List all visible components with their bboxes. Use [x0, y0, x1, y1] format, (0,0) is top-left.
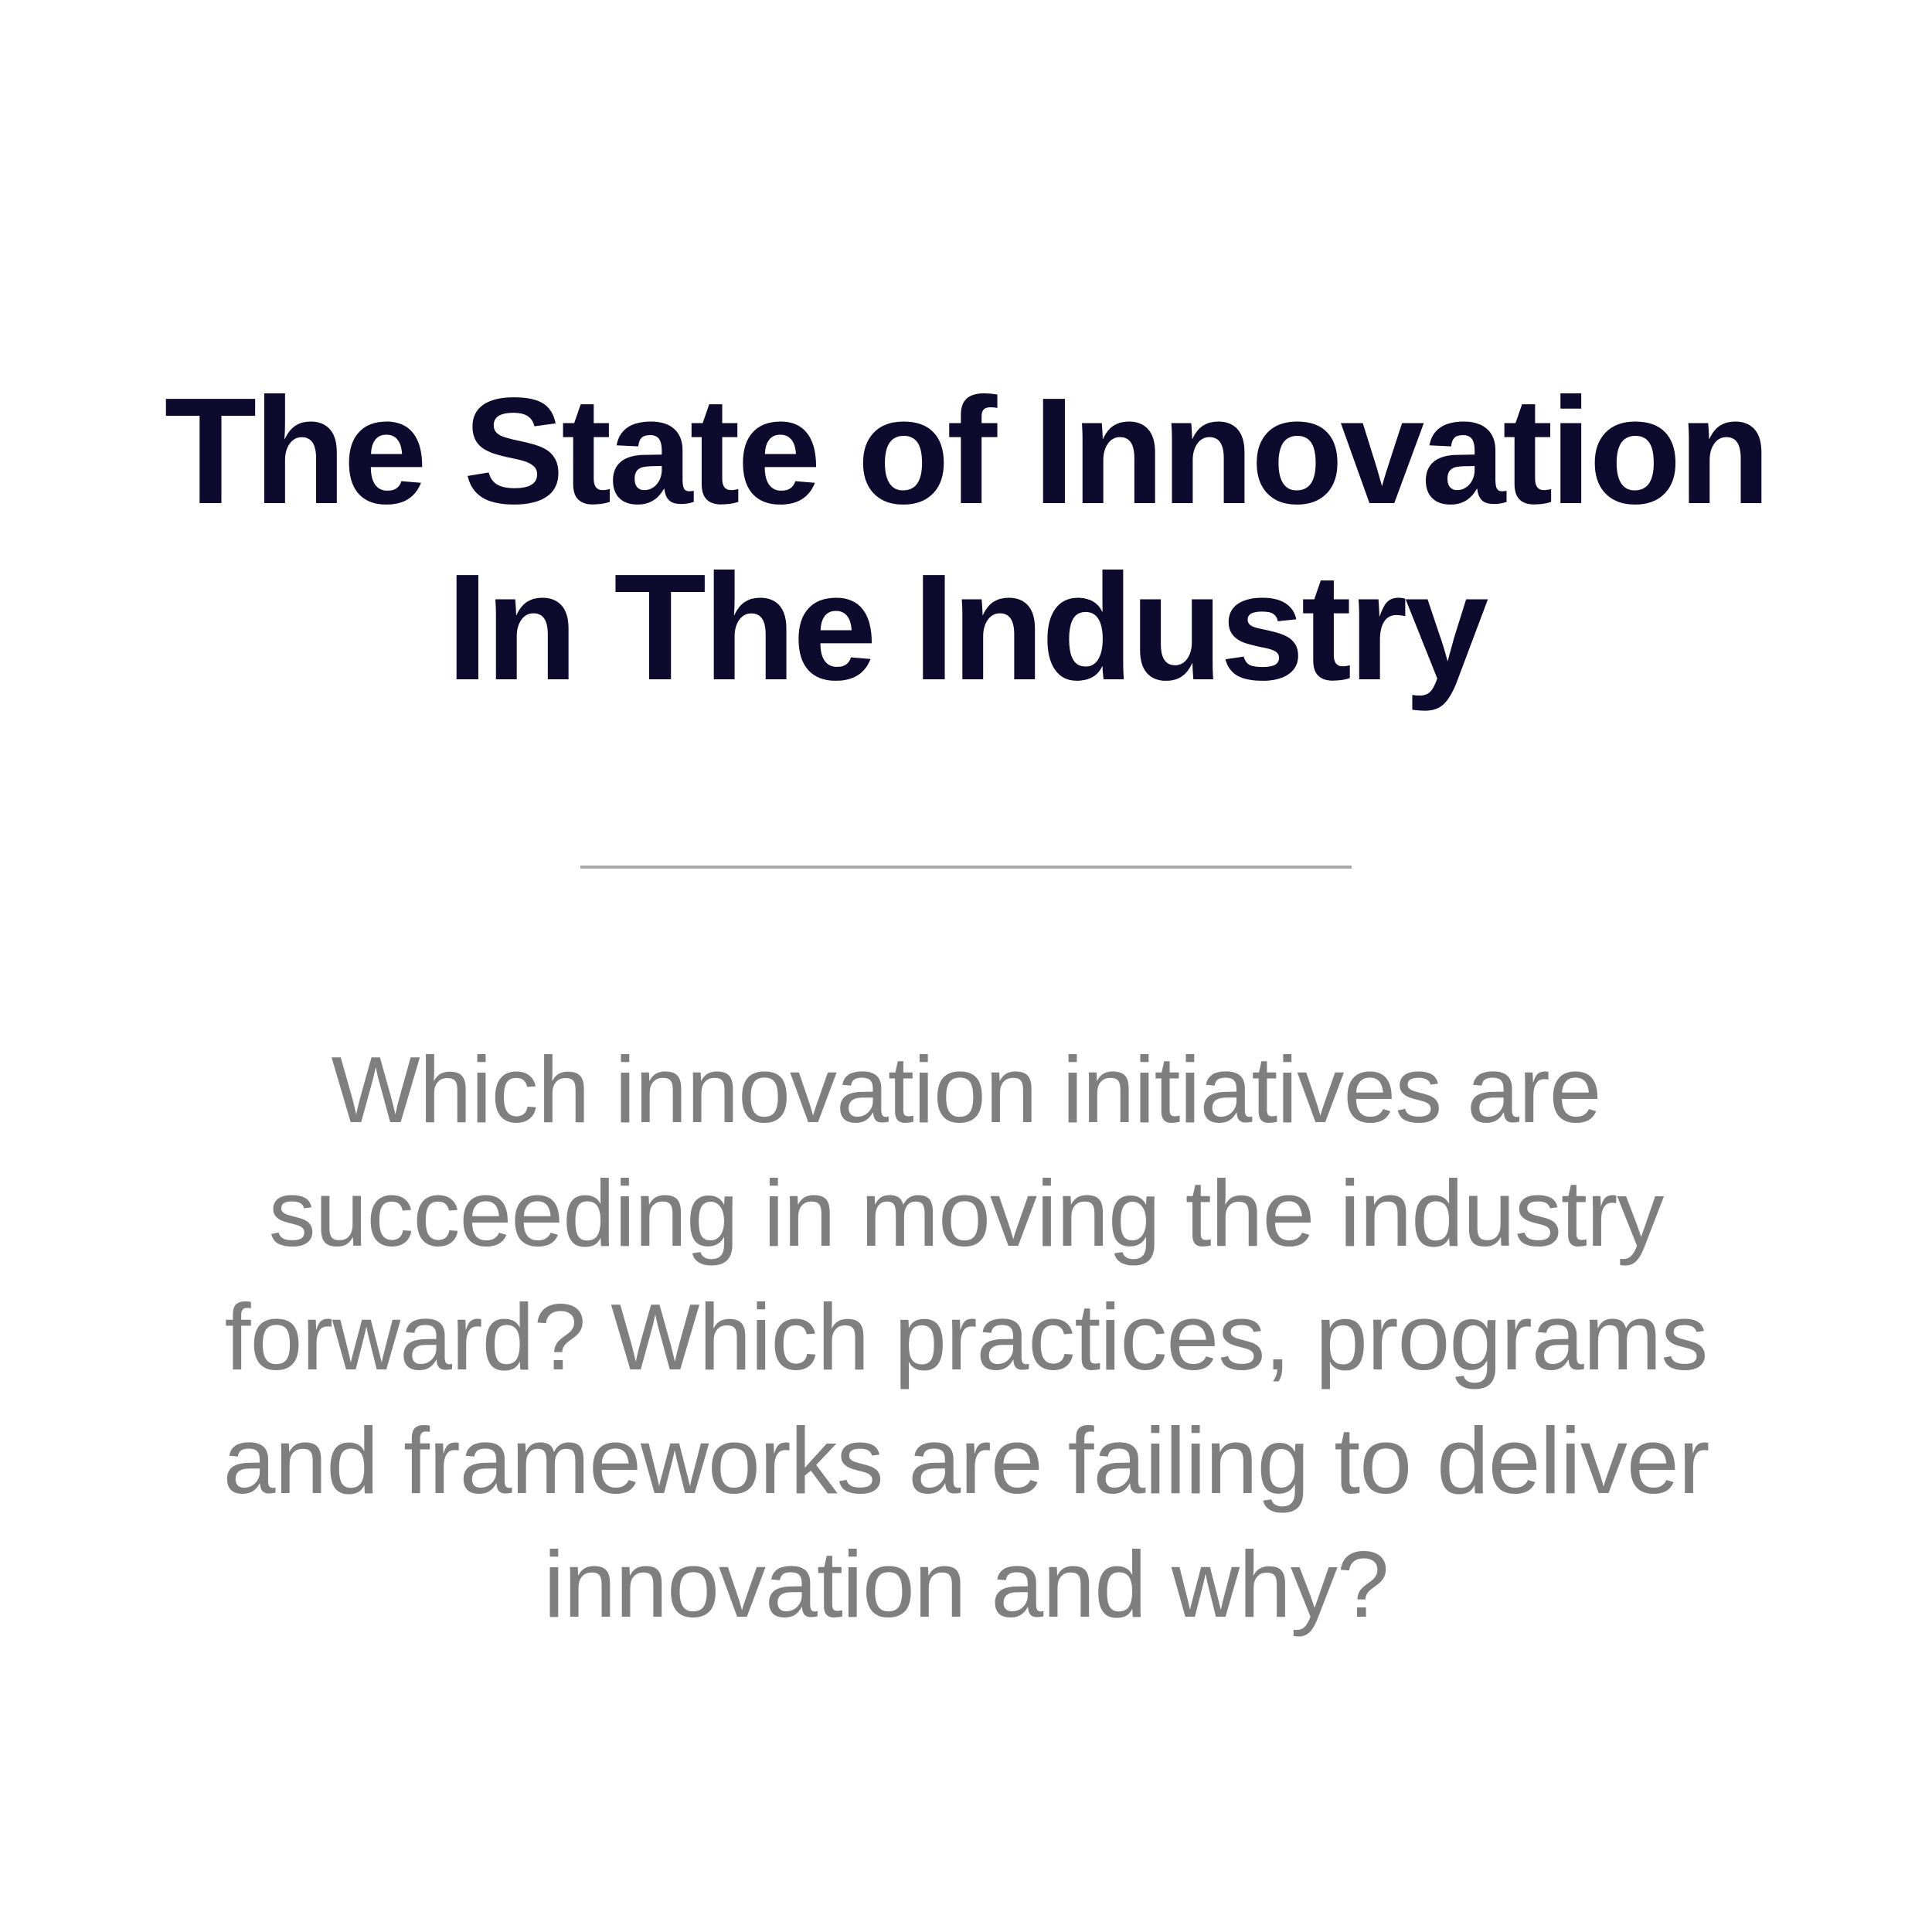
- title-block: The State of Innovation In The Industry: [0, 363, 1932, 716]
- section-divider: [580, 866, 1352, 869]
- body-block: Which innovation initiatives are succeed…: [0, 1028, 1932, 1646]
- page-title: The State of Innovation In The Industry: [116, 363, 1816, 716]
- divider-container: [0, 866, 1932, 869]
- subtitle-paragraph: Which innovation initiatives are succeed…: [178, 1028, 1754, 1646]
- slide-canvas: The State of Innovation In The Industry …: [0, 0, 1932, 1932]
